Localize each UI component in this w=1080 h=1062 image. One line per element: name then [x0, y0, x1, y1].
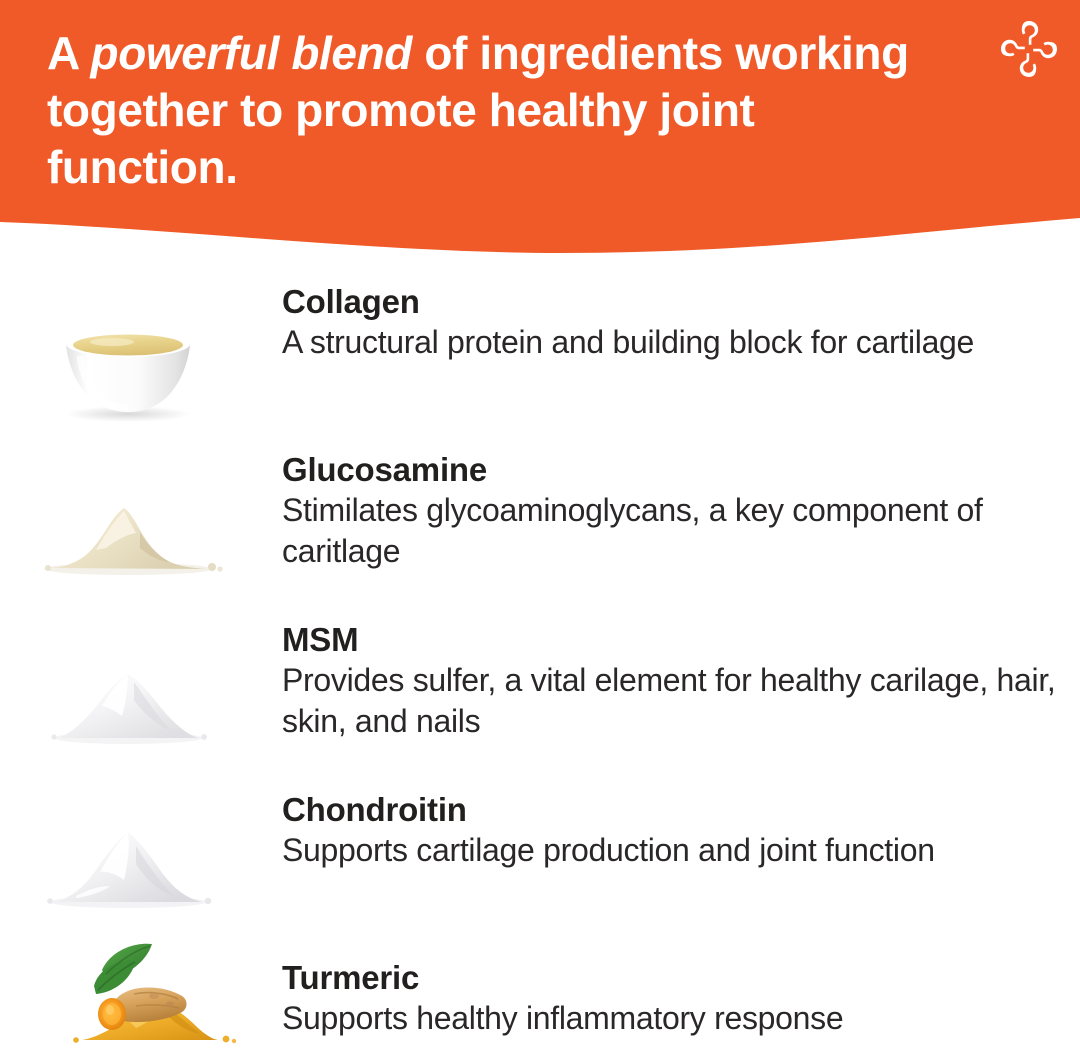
turmeric-root-leaves-and-powder-icon	[36, 934, 276, 1062]
ingredient-description: A structural protein and building block …	[282, 322, 1072, 363]
ingredient-row-collagen: Collagen A structural protein and buildi…	[0, 272, 1080, 440]
ingredient-name: Glucosamine	[282, 450, 1080, 490]
page-title: A powerful blend of ingredients working …	[47, 25, 927, 196]
chondroitin-powder-pile-icon	[36, 800, 276, 932]
infographic-page: A powerful blend of ingredients working …	[0, 0, 1080, 1062]
ingredient-name: MSM	[282, 620, 1080, 660]
ingredient-row-chondroitin: Chondroitin Supports cartilage productio…	[0, 780, 1080, 928]
pinwheel-flower-logo-icon	[998, 18, 1060, 80]
ingredient-description: Stimilates glycoaminoglycans, a key comp…	[282, 490, 1072, 572]
ingredient-description: Provides sulfer, a vital element for hea…	[282, 660, 1072, 742]
bowl-of-collagen-broth-icon	[36, 296, 276, 428]
ingredients-list: Collagen A structural protein and buildi…	[0, 272, 1080, 1060]
headline-part-1: A	[47, 27, 91, 79]
ingredient-description: Supports healthy inflammatory response	[282, 998, 1072, 1039]
ingredient-row-msm: MSM Provides sulfer, a vital element for…	[0, 610, 1080, 780]
ingredient-copy: Glucosamine Stimilates glycoaminoglycans…	[276, 440, 1080, 572]
ingredient-name: Chondroitin	[282, 790, 1080, 830]
ingredient-name: Turmeric	[282, 958, 1080, 998]
msm-powder-cone-icon	[36, 638, 276, 770]
ingredient-description: Supports cartilage production and joint …	[282, 830, 1072, 871]
headline-emphasis: powerful blend	[91, 27, 413, 79]
header-banner: A powerful blend of ingredients working …	[0, 0, 1080, 262]
ingredient-copy: Chondroitin Supports cartilage productio…	[276, 780, 1080, 871]
glucosamine-powder-pile-icon	[36, 468, 276, 600]
ingredient-copy: Collagen A structural protein and buildi…	[276, 272, 1080, 363]
ingredient-name: Collagen	[282, 282, 1080, 322]
ingredient-copy: MSM Provides sulfer, a vital element for…	[276, 610, 1080, 742]
ingredient-row-glucosamine: Glucosamine Stimilates glycoaminoglycans…	[0, 440, 1080, 610]
ingredient-copy: Turmeric Supports healthy inflammatory r…	[276, 928, 1080, 1039]
ingredient-row-turmeric: Turmeric Supports healthy inflammatory r…	[0, 928, 1080, 1060]
